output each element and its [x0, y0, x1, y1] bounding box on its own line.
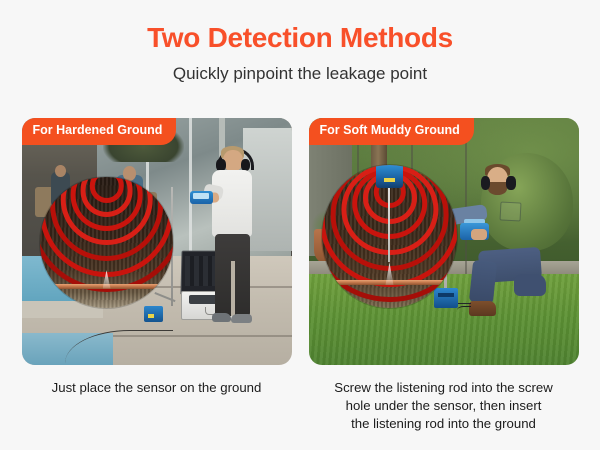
caption-soft-muddy-ground: Screw the listening rod into the screw h… — [309, 379, 579, 432]
sensor-above-ground — [376, 165, 403, 188]
photo-soft-muddy-ground: For Soft Muddy Ground — [309, 118, 579, 365]
badge-soft-muddy-ground: For Soft Muddy Ground — [309, 118, 474, 145]
sensor-label — [148, 314, 154, 318]
photo-hardened-ground: For Hardened Ground — [22, 118, 292, 365]
page-title: Two Detection Methods — [0, 24, 600, 52]
scene-garden — [309, 118, 579, 365]
leg-gap — [231, 261, 235, 315]
person-boot — [469, 301, 496, 316]
caption-line: Screw the listening rod into the screw — [309, 379, 579, 397]
page-subtitle: Quickly pinpoint the leakage point — [0, 65, 600, 82]
receiver-display — [193, 193, 209, 199]
shirt-pocket — [500, 201, 522, 221]
methods-panel-row: For Hardened Ground Just place the senso… — [0, 118, 600, 432]
badge-hardened-ground: For Hardened Ground — [22, 118, 177, 145]
caption-hardened-ground: Just place the sensor on the ground — [22, 379, 292, 397]
person-shoe — [231, 314, 253, 323]
person-shoe — [212, 313, 231, 322]
method-card-hardened-ground: For Hardened Ground Just place the senso… — [22, 118, 292, 432]
person-knee — [514, 274, 546, 296]
caption-line: Just place the sensor on the ground — [22, 379, 292, 397]
header: Two Detection Methods Quickly pinpoint t… — [0, 0, 600, 82]
sensor-wire — [457, 306, 471, 314]
cutaway-circle-hardened — [40, 177, 172, 308]
person-hand — [471, 229, 487, 240]
scene-patio — [22, 118, 292, 365]
caption-line: hole under the sensor, then insert — [309, 397, 579, 415]
cutaway-circle-soft-muddy — [322, 165, 457, 308]
person-head — [223, 150, 243, 172]
caption-line: the listening rod into the ground — [309, 415, 579, 433]
person-shin — [468, 260, 497, 304]
listening-rod-underground — [388, 179, 390, 262]
method-card-soft-muddy-ground: For Soft Muddy Ground Screw the listenin… — [309, 118, 579, 432]
person-torso — [212, 170, 253, 237]
sensor-label — [384, 178, 395, 182]
